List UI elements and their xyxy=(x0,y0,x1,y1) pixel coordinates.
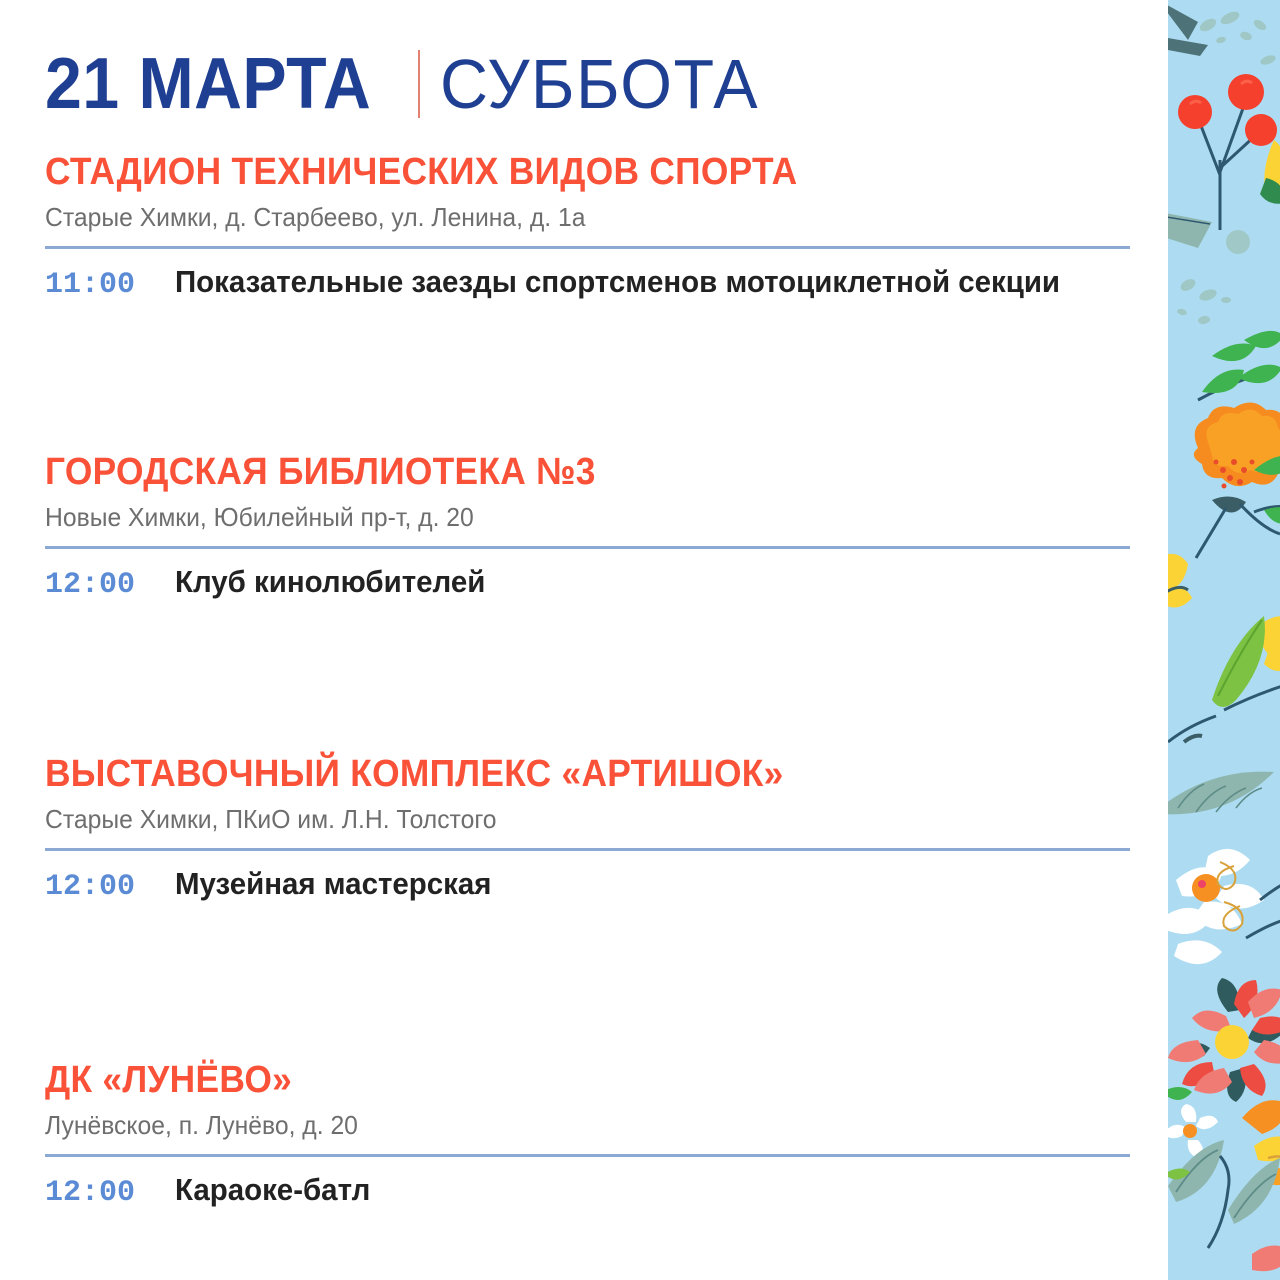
venue-name: ГОРОДСКАЯ БИБЛИОТЕКА №3 xyxy=(45,450,1054,494)
venue-block: СТАДИОН ТЕХНИЧЕСКИХ ВИДОВ СПОРТА Старые … xyxy=(45,150,1130,304)
venue-divider xyxy=(45,1154,1130,1157)
venue-name: СТАДИОН ТЕХНИЧЕСКИХ ВИДОВ СПОРТА xyxy=(45,150,1054,194)
event-time: 12:00 xyxy=(45,566,175,604)
venue-address: Новые Химки, Юбилейный пр-т, д. 20 xyxy=(45,500,1076,534)
venue-block: ДК «ЛУНЁВО» Лунёвское, п. Лунёво, д. 20 … xyxy=(45,1058,1130,1212)
event-title: Показательные заезды спортсменов мотоцик… xyxy=(175,263,1060,301)
event-row: 11:00 Показательные заезды спортсменов м… xyxy=(45,263,1130,304)
venue-block: ГОРОДСКАЯ БИБЛИОТЕКА №3 Новые Химки, Юби… xyxy=(45,450,1130,604)
floral-sidebar xyxy=(1168,0,1280,1280)
event-row: 12:00 Караоке-батл xyxy=(45,1171,1130,1212)
venue-block: ВЫСТАВОЧНЫЙ КОМПЛЕКС «АРТИШОК» Старые Хи… xyxy=(45,752,1130,906)
content-column: 21 МАРТА СУББОТА СТАДИОН ТЕХНИЧЕСКИХ ВИД… xyxy=(0,0,1165,1280)
event-title: Караоке-батл xyxy=(175,1171,370,1209)
venue-divider xyxy=(45,546,1130,549)
venue-address: Старые Химки, ПКиО им. Л.Н. Толстого xyxy=(45,802,1076,836)
event-time: 12:00 xyxy=(45,868,175,906)
header-date: 21 МАРТА xyxy=(45,48,371,120)
venue-divider xyxy=(45,848,1130,851)
poster-canvas: 21 МАРТА СУББОТА СТАДИОН ТЕХНИЧЕСКИХ ВИД… xyxy=(0,0,1280,1280)
venue-address: Старые Химки, д. Старбеево, ул. Ленина, … xyxy=(45,200,1076,234)
event-time: 12:00 xyxy=(45,1174,175,1212)
event-row: 12:00 Клуб кинолюбителей xyxy=(45,563,1130,604)
page-header: 21 МАРТА СУББОТА xyxy=(45,0,1120,150)
header-weekday: СУББОТА xyxy=(440,49,759,119)
venue-address: Лунёвское, п. Лунёво, д. 20 xyxy=(45,1108,1076,1142)
venue-name: ДК «ЛУНЁВО» xyxy=(45,1058,1054,1102)
event-row: 12:00 Музейная мастерская xyxy=(45,865,1130,906)
event-title: Музейная мастерская xyxy=(175,865,491,903)
venue-name: ВЫСТАВОЧНЫЙ КОМПЛЕКС «АРТИШОК» xyxy=(45,752,1054,796)
event-time: 11:00 xyxy=(45,266,175,304)
floral-illustration xyxy=(1168,0,1280,1280)
header-separator-rule xyxy=(418,50,420,118)
event-title: Клуб кинолюбителей xyxy=(175,563,485,601)
venue-divider xyxy=(45,246,1130,249)
